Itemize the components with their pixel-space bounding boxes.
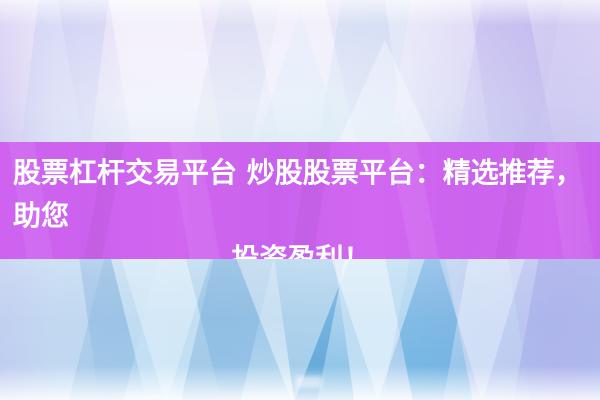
top-highlight-haze xyxy=(0,0,600,26)
headline-line-2: 投资盈利！ xyxy=(13,237,590,259)
bottom-highlight-haze xyxy=(0,366,600,400)
headline-band: 股票杠杆交易平台 炒股股票平台：精选推荐，助您 投资盈利！ xyxy=(0,142,600,259)
headline-text: 股票杠杆交易平台 炒股股票平台：精选推荐，助您 投资盈利！ xyxy=(0,142,600,259)
headline-line-1: 股票杠杆交易平台 炒股股票平台：精选推荐，助您 xyxy=(13,151,590,237)
promo-banner: 股票杠杆交易平台 炒股股票平台：精选推荐，助您 投资盈利！ xyxy=(0,0,600,400)
